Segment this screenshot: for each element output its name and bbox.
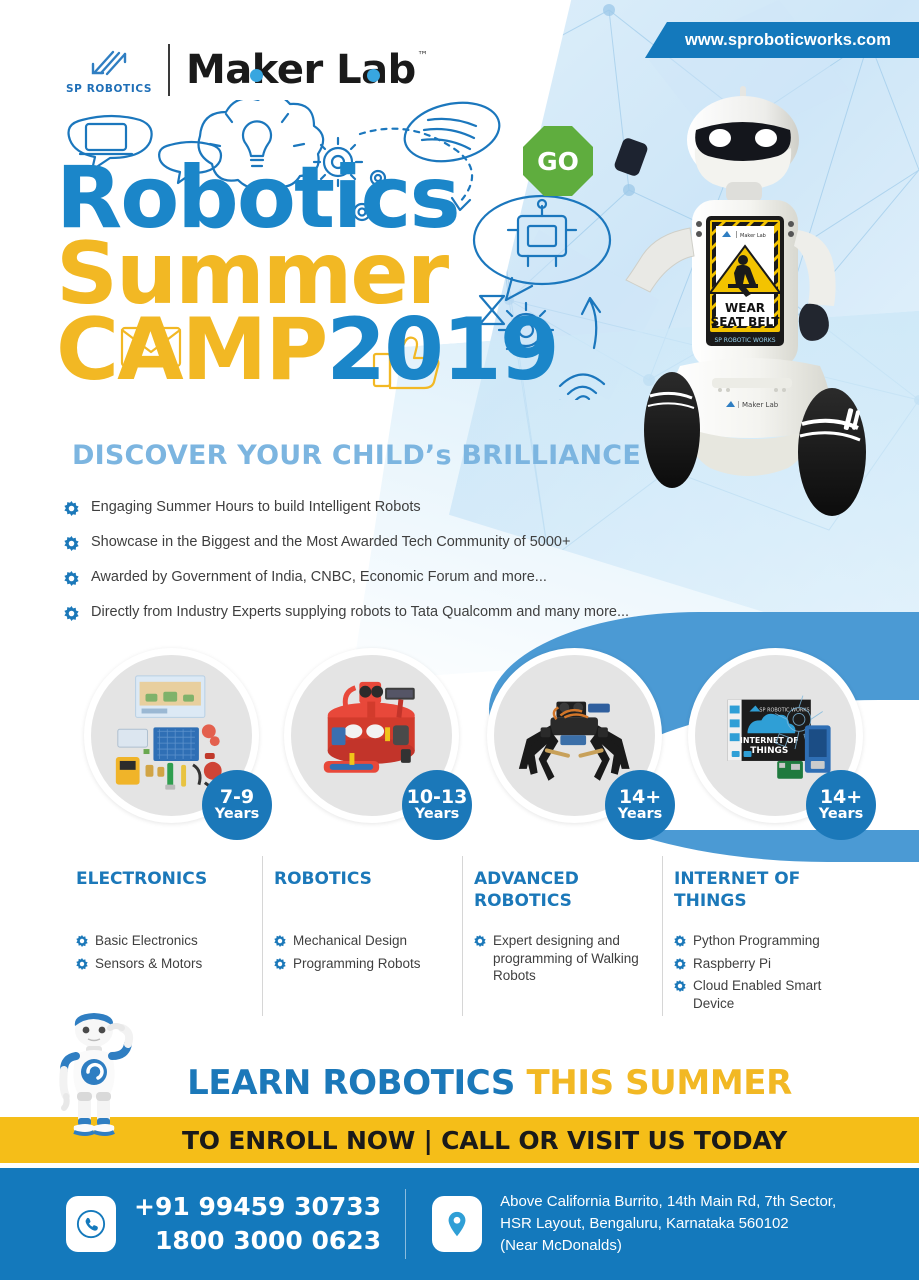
age-number: 7-9 — [220, 788, 254, 808]
learn-banner-text: LEARN ROBOTICS THIS SUMMER — [187, 1063, 792, 1103]
robot-sign-line2-text: SEAT BELT — [711, 315, 781, 329]
title-year-text: 2019 — [326, 300, 557, 400]
list-item: Raspberry Pi — [674, 955, 850, 973]
benefit-text: Engaging Summer Hours to build Intellige… — [91, 498, 421, 516]
age-number: 14+ — [820, 788, 862, 808]
course-column-advanced-robotics: ADVANCED ROBOTICS Expert designing and p… — [462, 868, 662, 1038]
poster-root: www.sproboticworks.com SP ROBOTICS Maker… — [0, 0, 919, 1280]
age-word: Years — [618, 807, 663, 822]
list-item: Expert designing and programming of Walk… — [474, 932, 650, 985]
list-item: Sensors & Motors — [76, 955, 250, 973]
footer-address-text: Above California Burrito, 14th Main Rd, … — [500, 1191, 836, 1256]
robot-sign-line1-text: WEAR — [725, 301, 765, 315]
feature-text: Cloud Enabled Smart Device — [693, 977, 850, 1012]
course-feature-list: Expert designing and programming of Walk… — [474, 932, 650, 985]
title-line-camp-year: CAMP2019 — [56, 314, 576, 386]
robot-brand-text: SP ROBOTIC WORKS — [714, 337, 775, 344]
footer-divider — [405, 1189, 406, 1259]
gear-bullet-icon — [76, 958, 88, 970]
course-title: INTERNET OF THINGS — [674, 868, 850, 914]
sp-robotics-logo: SP ROBOTICS — [66, 46, 152, 95]
page-title: DISCOVER YOUR CHILD’s BRILLIANCE — [72, 440, 641, 471]
benefit-text: Awarded by Government of India, CNBC, Ec… — [91, 568, 547, 586]
list-item: Programming Robots — [274, 955, 450, 973]
website-url-text: www.sproboticworks.com — [685, 31, 891, 50]
maker-lab-dot-b-icon — [367, 69, 380, 82]
svg-text:INTERNET OF: INTERNET OF — [740, 736, 799, 745]
course-circle-advanced-robotics[interactable]: 14+ Years — [487, 648, 687, 853]
maker-lab-text: Maker Lab — [186, 47, 416, 93]
course-details-row: ELECTRONICS Basic Electronics Sensors & … — [62, 868, 862, 1038]
course-column-robotics: ROBOTICS Mechanical Design Programming R… — [262, 868, 462, 1038]
list-item: Mechanical Design — [274, 932, 450, 950]
feature-text: Python Programming — [693, 932, 820, 950]
course-feature-list: Basic Electronics Sensors & Motors — [76, 932, 250, 972]
course-title: ELECTRONICS — [76, 868, 250, 914]
course-feature-list: Mechanical Design Programming Robots — [274, 932, 450, 972]
learn-blue-text: LEARN ROBOTICS — [187, 1063, 515, 1103]
benefit-text: Directly from Industry Experts supplying… — [91, 603, 629, 621]
age-word: Years — [215, 807, 260, 822]
title-camp-text: CAMP — [56, 300, 326, 400]
gear-bullet-icon — [64, 501, 79, 516]
hero-robot-illustration: Maker Lab WEAR SEAT BELT SP ROBOTIC WORK… — [600, 78, 900, 548]
gear-bullet-icon — [674, 958, 686, 970]
course-circle-iot[interactable]: SP ROBOTIC WORKS INTERNET OF THINGS — [688, 648, 888, 853]
gear-bullet-icon — [76, 935, 88, 947]
address-line-1: Above California Burrito, 14th Main Rd, … — [500, 1191, 836, 1213]
footer-phone-block[interactable]: +91 99459 30733 1800 3000 0623 — [0, 1190, 381, 1258]
robot-body-label-text: Maker Lab — [740, 233, 766, 239]
course-title: ADVANCED ROBOTICS — [474, 868, 650, 914]
website-banner[interactable]: www.sproboticworks.com — [645, 22, 919, 58]
course-circle-robotics[interactable]: 10-13 Years — [284, 648, 484, 853]
gear-bullet-icon — [474, 935, 486, 947]
feature-text: Programming Robots — [293, 955, 421, 973]
trademark-symbol: ™ — [417, 49, 428, 62]
address-line-2: HSR Layout, Bengaluru, Karnataka 560102 — [500, 1213, 836, 1235]
location-pin-icon — [432, 1196, 482, 1252]
learn-yellow-text: THIS SUMMER — [526, 1063, 791, 1103]
go-sign-text: GO — [537, 147, 579, 176]
list-item: Awarded by Government of India, CNBC, Ec… — [64, 568, 854, 586]
phone-icon — [66, 1196, 116, 1252]
age-word: Years — [415, 807, 460, 822]
age-badge: 10-13 Years — [402, 770, 472, 840]
list-item: Python Programming — [674, 932, 850, 950]
phone-number-toll-free: 1800 3000 0623 — [134, 1224, 381, 1258]
age-number: 10-13 — [407, 788, 468, 808]
feature-text: Basic Electronics — [95, 932, 198, 950]
feature-text: Mechanical Design — [293, 932, 407, 950]
gear-bullet-icon — [64, 606, 79, 621]
list-item: Cloud Enabled Smart Device — [674, 977, 850, 1012]
gear-bullet-icon — [64, 536, 79, 551]
gear-bullet-icon — [674, 935, 686, 947]
footer-contact-bar: +91 99459 30733 1800 3000 0623 Above Cal… — [0, 1168, 919, 1280]
feature-text: Raspberry Pi — [693, 955, 771, 973]
benefit-text: Showcase in the Biggest and the Most Awa… — [91, 533, 570, 551]
svg-text:Maker Lab: Maker Lab — [742, 401, 779, 409]
footer-phone-numbers: +91 99459 30733 1800 3000 0623 — [134, 1190, 381, 1258]
age-word: Years — [819, 807, 864, 822]
course-circle-electronics[interactable]: 7-9 Years — [84, 648, 284, 853]
course-column-iot: INTERNET OF THINGS Python Programming Ra… — [662, 868, 862, 1038]
list-item: Basic Electronics — [76, 932, 250, 950]
gear-bullet-icon — [274, 958, 286, 970]
brand-lockup: SP ROBOTICS Maker Lab ™ — [66, 44, 416, 96]
age-badge: 14+ Years — [806, 770, 876, 840]
svg-text:THINGS: THINGS — [751, 746, 789, 756]
footer-address-block: Above California Burrito, 14th Main Rd, … — [432, 1191, 836, 1256]
sp-robotics-wordmark: SP ROBOTICS — [66, 83, 152, 95]
sp-robotics-mark-icon — [87, 46, 131, 80]
maker-lab-wordmark: Maker Lab ™ — [186, 47, 416, 93]
nao-robot-illustration — [28, 1010, 158, 1150]
feature-text: Sensors & Motors — [95, 955, 202, 973]
gear-bullet-icon — [64, 571, 79, 586]
age-number: 14+ — [619, 788, 661, 808]
go-sign-badge: GO — [523, 126, 593, 196]
poster-title: Robotics Summer CAMP2019 — [56, 162, 576, 387]
address-line-3: (Near McDonalds) — [500, 1235, 836, 1257]
list-item: Directly from Industry Experts supplying… — [64, 603, 854, 621]
age-badge: 14+ Years — [605, 770, 675, 840]
up-arrow-doodle-icon — [582, 298, 600, 348]
course-title: ROBOTICS — [274, 868, 450, 914]
phone-number-primary: +91 99459 30733 — [134, 1190, 381, 1224]
brand-divider — [168, 44, 170, 96]
age-badge: 7-9 Years — [202, 770, 272, 840]
gear-bullet-icon — [674, 980, 686, 992]
course-feature-list: Python Programming Raspberry Pi Cloud En… — [674, 932, 850, 1012]
feature-text: Expert designing and programming of Walk… — [493, 932, 650, 985]
enroll-banner-text: TO ENROLL NOW | CALL OR VISIT US TODAY — [182, 1126, 787, 1155]
maker-lab-dot-a-icon — [250, 69, 263, 82]
course-circles-row: 7-9 Years — [0, 648, 919, 868]
gear-bullet-icon — [274, 935, 286, 947]
